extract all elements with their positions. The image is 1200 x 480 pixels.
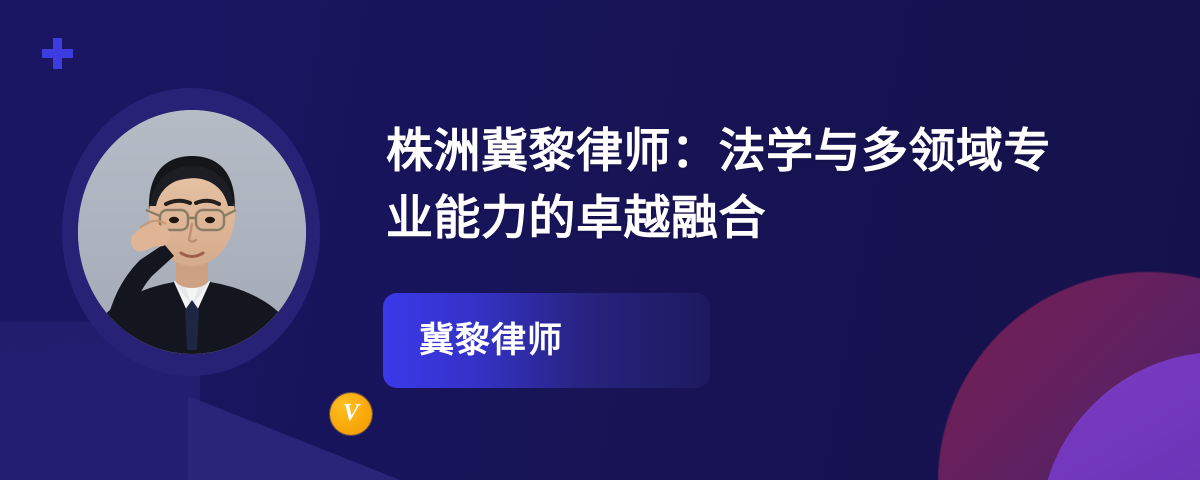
avatar-portrait-icon [78,110,306,354]
lawyer-name-button[interactable]: 冀黎律师 [383,293,710,388]
avatar: V [62,88,320,376]
banner-content: 株洲冀黎律师：法学与多领域专业能力的卓越融合 [386,118,1086,251]
verified-badge-icon: V [330,393,372,435]
plus-icon [42,38,73,69]
verified-badge-label: V [343,401,359,425]
promo-banner: V 株洲冀黎律师：法学与多领域专业能力的卓越融合 冀黎律师 [0,0,1200,480]
page-title: 株洲冀黎律师：法学与多领域专业能力的卓越融合 [386,118,1086,251]
lawyer-name-button-label: 冀黎律师 [419,323,563,358]
